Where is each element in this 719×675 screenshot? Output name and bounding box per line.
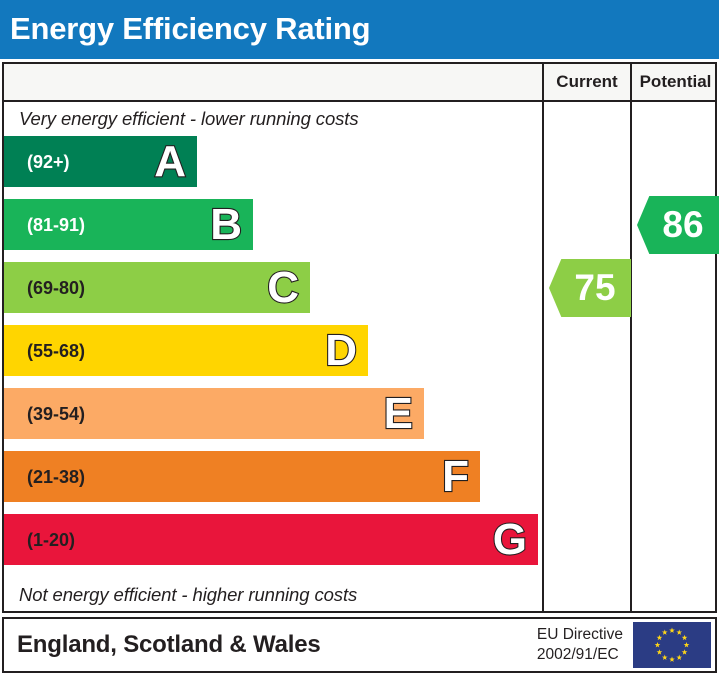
column-divider-potential [630,64,632,611]
rating-arrow-potential: 86 [637,196,719,254]
rating-value-current: 75 [564,269,615,306]
column-divider-current [542,64,544,611]
directive-line-1: EU Directive [537,625,623,645]
rating-arrow-current: 75 [549,259,631,317]
column-header-current: Current [544,64,630,100]
band-bar-a: (92+)A [4,136,197,187]
band-range-e: (39-54) [27,405,85,423]
band-bars-container: (92+)A(81-91)B(69-80)C(55-68)D(39-54)E(2… [4,136,542,577]
band-range-g: (1-20) [27,531,75,549]
band-bar-g: (1-20)G [4,514,538,565]
band-bar-e: (39-54)E [4,388,424,439]
certificate-footer: England, Scotland & Wales EU Directive 2… [2,617,717,673]
directive-line-2: 2002/91/EC [537,645,623,665]
band-letter-d: D [325,329,357,373]
footer-region-label: England, Scotland & Wales [17,631,321,659]
band-bar-c: (69-80)C [4,262,310,313]
rating-table: Current Potential Very energy efficient … [2,62,717,613]
band-range-a: (92+) [27,153,70,171]
band-letter-g: G [493,518,527,562]
chart-title-bar: Energy Efficiency Rating [0,0,719,59]
band-bar-f: (21-38)F [4,451,480,502]
band-letter-e: E [384,392,413,436]
band-bar-d: (55-68)D [4,325,368,376]
band-letter-a: A [154,140,186,184]
band-range-c: (69-80) [27,279,85,297]
band-letter-f: F [442,455,469,499]
band-bar-b: (81-91)B [4,199,253,250]
band-range-f: (21-38) [27,468,85,486]
page-title: Energy Efficiency Rating [0,13,370,44]
band-range-b: (81-91) [27,216,85,234]
eu-flag-icon [633,622,711,668]
rating-value-potential: 86 [652,206,703,243]
caption-not-efficient: Not energy efficient - higher running co… [4,578,542,611]
caption-very-efficient: Very energy efficient - lower running co… [4,102,542,135]
column-header-potential: Potential [632,64,719,100]
band-letter-b: B [210,203,242,247]
band-letter-c: C [267,266,299,310]
band-range-d: (55-68) [27,342,85,360]
footer-directive-label: EU Directive 2002/91/EC [537,625,623,665]
energy-efficiency-rating-certificate: Energy Efficiency Rating Current Potenti… [0,0,719,675]
